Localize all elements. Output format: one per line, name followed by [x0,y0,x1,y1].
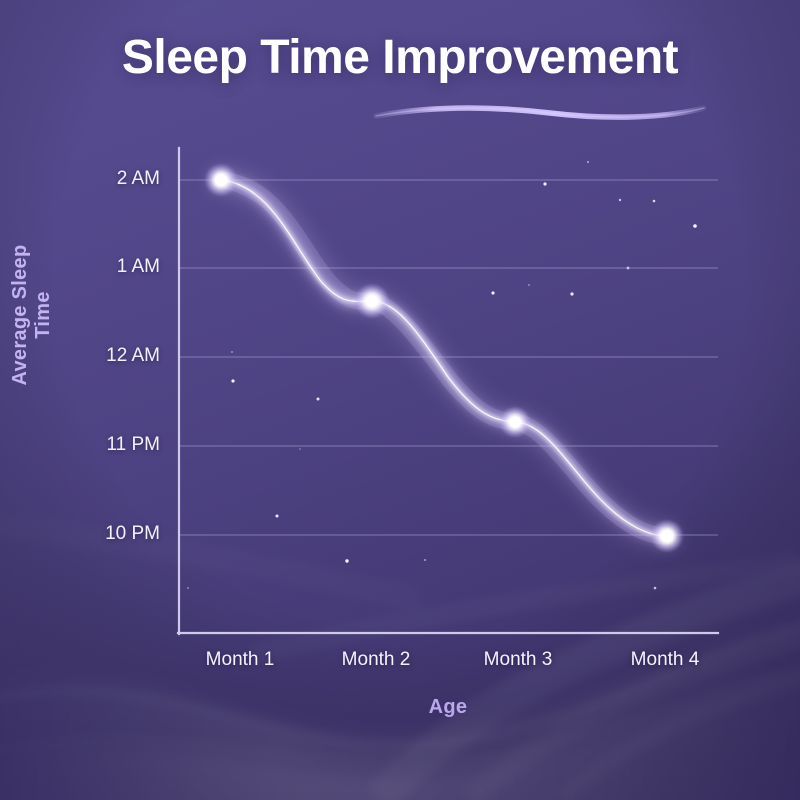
x-axis-title: Age [178,696,718,719]
chart-poster: Sleep Time Improvement [0,0,800,800]
ytick-label: 12 AM [40,345,160,367]
ytick-label: 10 PM [40,523,160,545]
xtick-label: Month 4 [595,649,735,671]
xtick-label: Month 2 [306,649,446,671]
xtick-label: Month 1 [170,649,310,671]
data-line-core [221,180,667,536]
axis-lines [178,148,718,634]
y-axis-title: Average Sleep Time [9,225,55,405]
xtick-label: Month 3 [448,649,588,671]
ytick-label: 11 PM [40,434,160,456]
chart-plot [0,0,800,800]
gridlines [178,180,718,535]
ytick-label: 2 AM [40,168,160,190]
data-point-month-4 [650,519,684,553]
data-point-month-2 [354,283,390,319]
ytick-label: 1 AM [40,256,160,278]
data-point-month-1 [204,163,238,197]
data-point-month-3 [499,406,531,438]
